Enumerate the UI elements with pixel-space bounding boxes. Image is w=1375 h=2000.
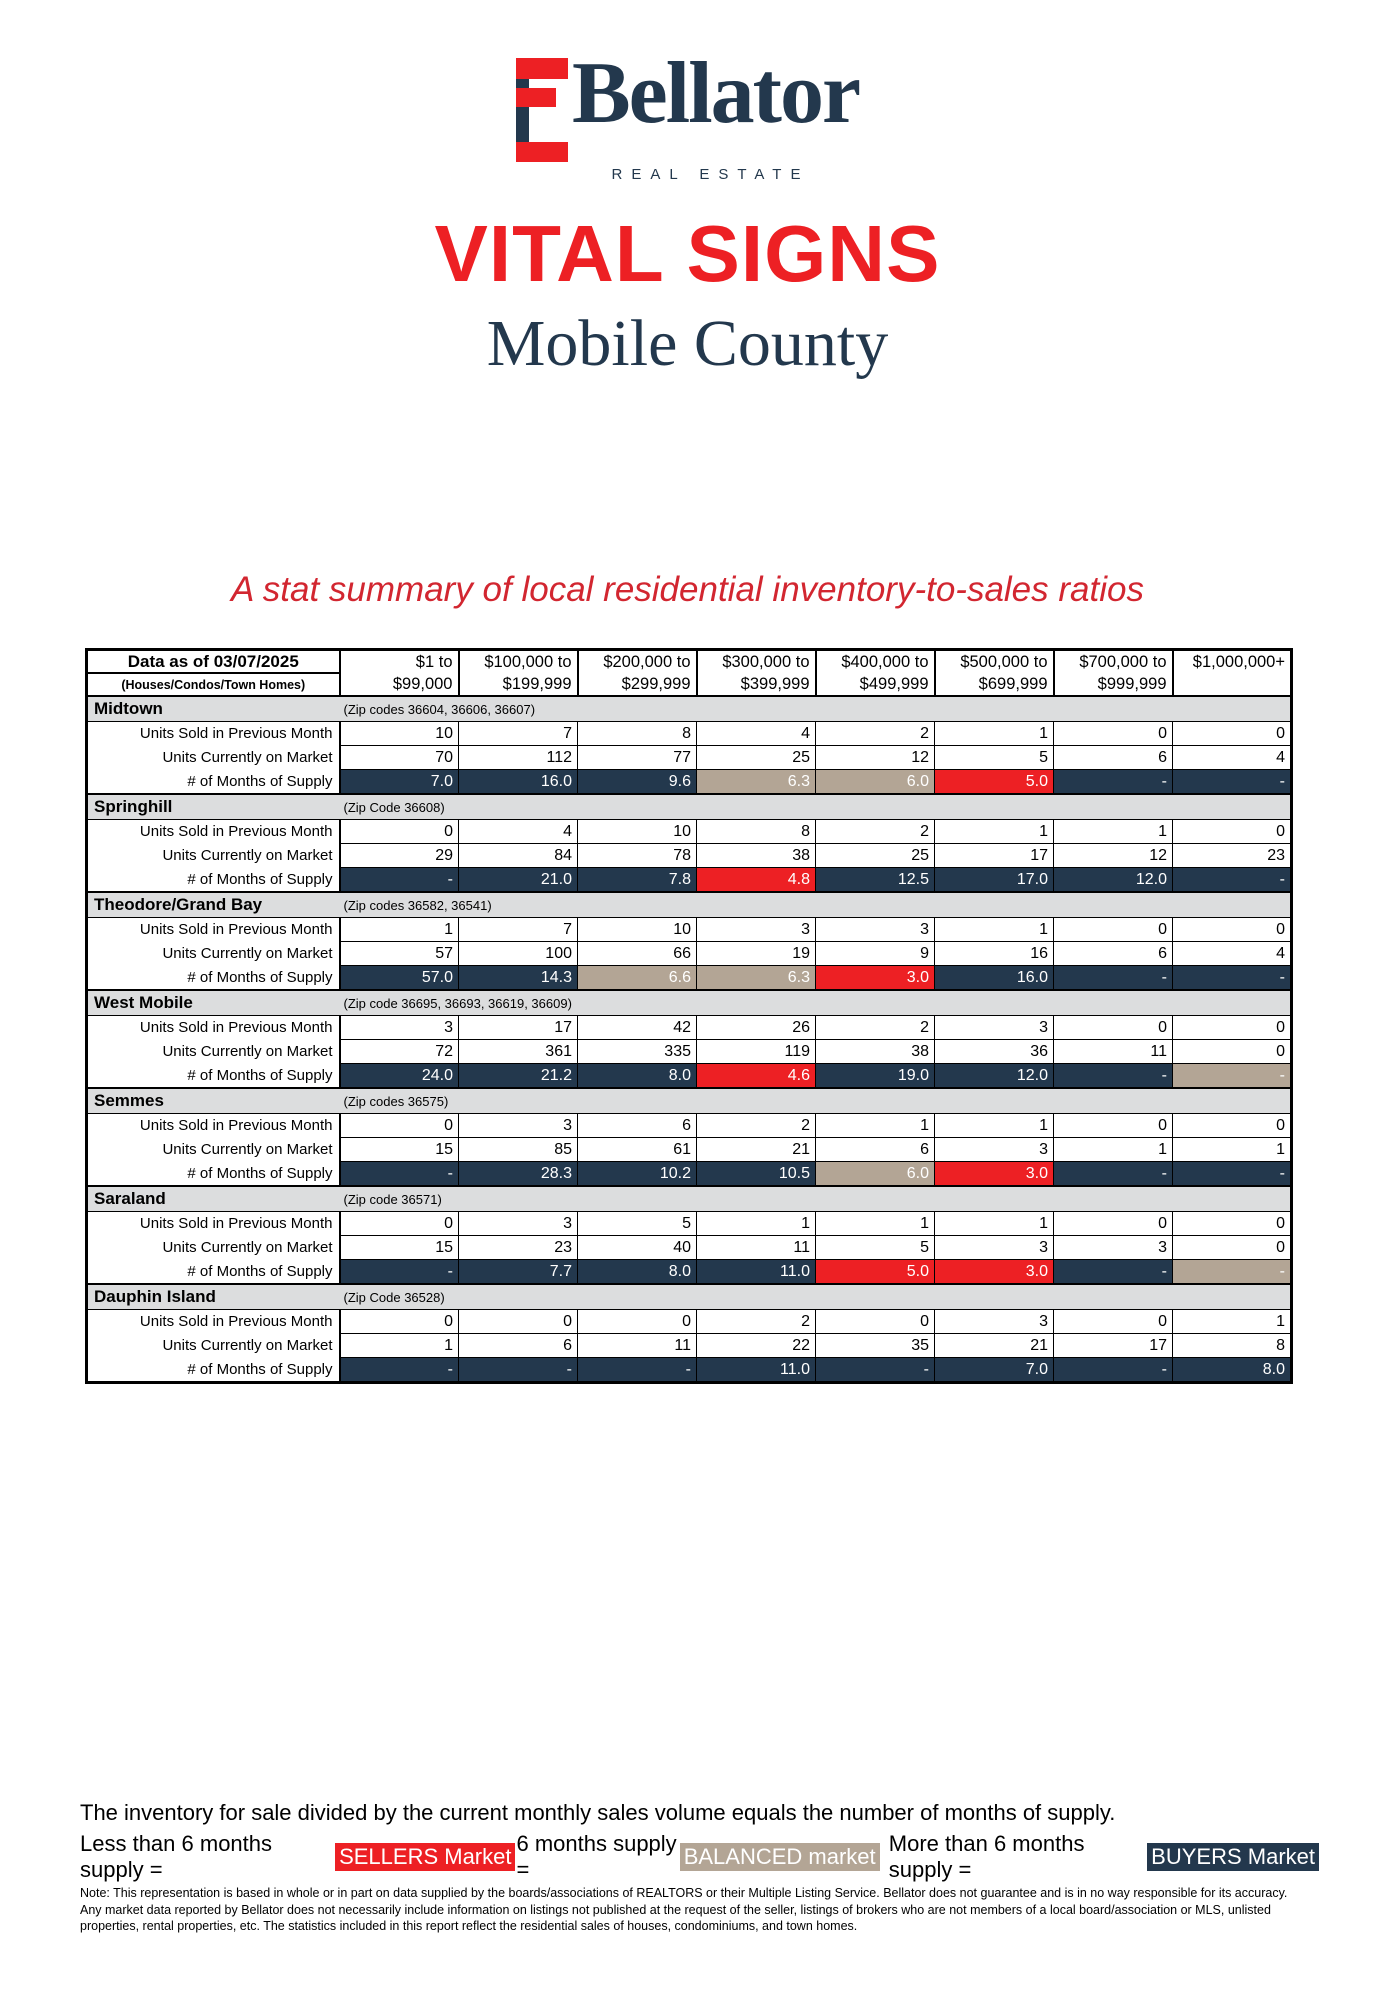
supply-cell: 5.0 <box>935 770 1054 795</box>
supply-cell: 6.3 <box>697 966 816 991</box>
market-cell: 40 <box>578 1236 697 1260</box>
supply-cell: - <box>1173 966 1292 991</box>
market-cell: 3 <box>935 1236 1054 1260</box>
supply-cell: 7.0 <box>935 1358 1054 1383</box>
row-label-supply: # of Months of Supply <box>87 1162 340 1187</box>
sold-cell: 0 <box>1054 1114 1173 1138</box>
supply-cell: 10.5 <box>697 1162 816 1187</box>
market-cell: 35 <box>816 1334 935 1358</box>
column-header-top-4: $400,000 to <box>816 650 935 674</box>
page-title: VITAL SIGNS <box>0 208 1375 300</box>
supply-cell: 7.0 <box>340 770 459 795</box>
market-cell: 100 <box>459 942 578 966</box>
market-cell: 11 <box>697 1236 816 1260</box>
market-cell: 72 <box>340 1040 459 1064</box>
sold-cell: 0 <box>340 1212 459 1236</box>
supply-cell: - <box>578 1358 697 1383</box>
column-header-top-1: $100,000 to <box>459 650 578 674</box>
market-cell: 70 <box>340 746 459 770</box>
section-header-row: Semmes(Zip codes 36575) <box>87 1088 1292 1114</box>
market-cell: 22 <box>697 1334 816 1358</box>
market-cell: 361 <box>459 1040 578 1064</box>
sold-cell: 8 <box>578 722 697 746</box>
supply-cell: 3.0 <box>935 1162 1054 1187</box>
market-cell: 12 <box>1054 844 1173 868</box>
column-header-top-0: $1 to <box>340 650 459 674</box>
sold-cell: 1 <box>816 1212 935 1236</box>
market-cell: 4 <box>1173 942 1292 966</box>
supply-cell: 21.0 <box>459 868 578 893</box>
market-cell: 16 <box>935 942 1054 966</box>
market-cell: 36 <box>935 1040 1054 1064</box>
bellator-logo: Bellator REAL ESTATE <box>0 52 1375 184</box>
supply-cell: 8.0 <box>578 1260 697 1285</box>
sold-cell: 3 <box>340 1016 459 1040</box>
supply-cell: - <box>1173 1064 1292 1089</box>
column-header-bottom-0: $99,000 <box>340 673 459 696</box>
sold-cell: 0 <box>578 1310 697 1334</box>
column-header-top-6: $700,000 to <box>1054 650 1173 674</box>
sold-cell: 1 <box>935 722 1054 746</box>
column-header-bottom-4: $499,999 <box>816 673 935 696</box>
table-row: Units Sold in Previous Month31742262300 <box>87 1016 1292 1040</box>
sold-cell: 0 <box>1054 1212 1173 1236</box>
sold-cell: 2 <box>697 1310 816 1334</box>
sold-cell: 26 <box>697 1016 816 1040</box>
supply-cell: 11.0 <box>697 1358 816 1383</box>
market-cell: 0 <box>1173 1236 1292 1260</box>
sold-cell: 0 <box>340 820 459 844</box>
market-cell: 85 <box>459 1138 578 1162</box>
section-name: Theodore/Grand Bay <box>87 892 340 918</box>
row-label-sold: Units Sold in Previous Month <box>87 722 340 746</box>
supply-cell: - <box>1173 868 1292 893</box>
supply-cell: 11.0 <box>697 1260 816 1285</box>
supply-cell: 10.2 <box>578 1162 697 1187</box>
column-header-top-3: $300,000 to <box>697 650 816 674</box>
supply-cell: - <box>1054 1162 1173 1187</box>
market-cell: 12 <box>816 746 935 770</box>
supply-cell: - <box>1054 1260 1173 1285</box>
table-row: # of Months of Supply---11.0-7.0-8.0 <box>87 1358 1292 1383</box>
market-cell: 6 <box>459 1334 578 1358</box>
market-cell: 25 <box>697 746 816 770</box>
table-row: # of Months of Supply-28.310.210.56.03.0… <box>87 1162 1292 1187</box>
market-cell: 5 <box>935 746 1054 770</box>
sold-cell: 0 <box>459 1310 578 1334</box>
row-label-supply: # of Months of Supply <box>87 1064 340 1089</box>
market-cell: 29 <box>340 844 459 868</box>
supply-cell: 4.8 <box>697 868 816 893</box>
market-cell: 17 <box>935 844 1054 868</box>
table-row: Units Currently on Market298478382517122… <box>87 844 1292 868</box>
sold-cell: 0 <box>1173 1114 1292 1138</box>
sold-cell: 1 <box>935 1212 1054 1236</box>
table-row: # of Months of Supply7.016.09.66.36.05.0… <box>87 770 1292 795</box>
market-cell: 25 <box>816 844 935 868</box>
market-cell: 19 <box>697 942 816 966</box>
market-cell: 17 <box>1054 1334 1173 1358</box>
legend-more-label: More than 6 months supply = <box>889 1831 1146 1883</box>
supply-cell: - <box>459 1358 578 1383</box>
supply-cell: 24.0 <box>340 1064 459 1089</box>
supply-cell: 9.6 <box>578 770 697 795</box>
section-name: Dauphin Island <box>87 1284 340 1310</box>
sold-cell: 0 <box>1054 722 1173 746</box>
vital-signs-table-wrap: Data as of 03/07/2025$1 to$100,000 to$20… <box>85 648 1290 1384</box>
supply-cell: 6.0 <box>816 1162 935 1187</box>
table-row: # of Months of Supply-21.07.84.812.517.0… <box>87 868 1292 893</box>
table-row: Units Sold in Previous Month03511100 <box>87 1212 1292 1236</box>
supply-cell: 6.0 <box>816 770 935 795</box>
table-header-row-top: Data as of 03/07/2025$1 to$100,000 to$20… <box>87 650 1292 674</box>
sold-cell: 10 <box>578 918 697 942</box>
market-cell: 78 <box>578 844 697 868</box>
market-cell: 1 <box>340 1334 459 1358</box>
page-subtitle: Mobile County <box>0 306 1375 382</box>
market-cell: 6 <box>1054 746 1173 770</box>
table-row: Units Currently on Market152340115330 <box>87 1236 1292 1260</box>
sold-cell: 0 <box>1173 1016 1292 1040</box>
row-label-sold: Units Sold in Previous Month <box>87 1016 340 1040</box>
brand-tagline: REAL ESTATE <box>516 166 859 183</box>
row-label-sold: Units Sold in Previous Month <box>87 918 340 942</box>
row-label-market: Units Currently on Market <box>87 1040 340 1064</box>
table-row: # of Months of Supply24.021.28.04.619.01… <box>87 1064 1292 1089</box>
sold-cell: 3 <box>697 918 816 942</box>
supply-cell: - <box>1173 1162 1292 1187</box>
supply-cell: 16.0 <box>459 770 578 795</box>
supply-cell: 8.0 <box>1173 1358 1292 1383</box>
sold-cell: 7 <box>459 918 578 942</box>
section-zipcodes: (Zip codes 36604, 36606, 36607) <box>340 696 1292 722</box>
supply-cell: - <box>1173 1260 1292 1285</box>
supply-cell: - <box>340 1162 459 1187</box>
supply-cell: 3.0 <box>935 1260 1054 1285</box>
supply-cell: 8.0 <box>578 1064 697 1089</box>
section-zipcodes: (Zip Code 36608) <box>340 794 1292 820</box>
column-header-bottom-5: $699,999 <box>935 673 1054 696</box>
table-row: # of Months of Supply57.014.36.66.33.016… <box>87 966 1292 991</box>
supply-cell: 21.2 <box>459 1064 578 1089</box>
supply-cell: 28.3 <box>459 1162 578 1187</box>
legend-chips-row: Less than 6 months supply = SELLERS Mark… <box>80 1831 1320 1883</box>
row-label-market: Units Currently on Market <box>87 1334 340 1358</box>
supply-cell: - <box>1054 966 1173 991</box>
sold-cell: 5 <box>578 1212 697 1236</box>
sold-cell: 1 <box>935 1114 1054 1138</box>
table-corner-subtitle: (Houses/Condos/Town Homes) <box>87 673 340 696</box>
supply-cell: 14.3 <box>459 966 578 991</box>
sold-cell: 3 <box>935 1016 1054 1040</box>
row-label-market: Units Currently on Market <box>87 942 340 966</box>
row-label-supply: # of Months of Supply <box>87 770 340 795</box>
sold-cell: 0 <box>1173 1212 1292 1236</box>
market-cell: 112 <box>459 746 578 770</box>
table-row: Units Currently on Market158561216311 <box>87 1138 1292 1162</box>
table-row: Units Sold in Previous Month171033100 <box>87 918 1292 942</box>
column-header-top-5: $500,000 to <box>935 650 1054 674</box>
row-label-supply: # of Months of Supply <box>87 868 340 893</box>
legend-six-label: 6 months supply = <box>516 1831 678 1883</box>
section-zipcodes: (Zip codes 36582, 36541) <box>340 892 1292 918</box>
market-cell: 6 <box>816 1138 935 1162</box>
section-header-row: Dauphin Island(Zip Code 36528) <box>87 1284 1292 1310</box>
row-label-market: Units Currently on Market <box>87 1138 340 1162</box>
market-cell: 15 <box>340 1138 459 1162</box>
sold-cell: 0 <box>340 1114 459 1138</box>
market-cell: 21 <box>935 1334 1054 1358</box>
bellator-b-mark-icon <box>516 58 568 162</box>
sellers-market-chip: SELLERS Market <box>335 1843 515 1871</box>
market-cell: 0 <box>1173 1040 1292 1064</box>
market-cell: 1 <box>1173 1138 1292 1162</box>
sold-cell: 2 <box>816 820 935 844</box>
row-label-supply: # of Months of Supply <box>87 1358 340 1383</box>
market-cell: 66 <box>578 942 697 966</box>
supply-cell: - <box>1054 770 1173 795</box>
row-label-market: Units Currently on Market <box>87 844 340 868</box>
section-name: Semmes <box>87 1088 340 1114</box>
balanced-market-chip: BALANCED market <box>680 1843 880 1871</box>
row-label-market: Units Currently on Market <box>87 1236 340 1260</box>
row-label-sold: Units Sold in Previous Month <box>87 1212 340 1236</box>
supply-cell: 19.0 <box>816 1064 935 1089</box>
sold-cell: 4 <box>697 722 816 746</box>
table-row: # of Months of Supply-7.78.011.05.03.0-- <box>87 1260 1292 1285</box>
sold-cell: 0 <box>340 1310 459 1334</box>
sold-cell: 2 <box>816 1016 935 1040</box>
table-row: Units Currently on Market57100661991664 <box>87 942 1292 966</box>
market-cell: 21 <box>697 1138 816 1162</box>
section-zipcodes: (Zip code 36695, 36693, 36619, 36609) <box>340 990 1292 1016</box>
market-cell: 8 <box>1173 1334 1292 1358</box>
supply-cell: 57.0 <box>340 966 459 991</box>
market-cell: 335 <box>578 1040 697 1064</box>
supply-cell: - <box>340 1358 459 1383</box>
market-cell: 23 <box>459 1236 578 1260</box>
row-label-sold: Units Sold in Previous Month <box>87 820 340 844</box>
sold-cell: 17 <box>459 1016 578 1040</box>
sold-cell: 7 <box>459 722 578 746</box>
sold-cell: 1 <box>340 918 459 942</box>
sold-cell: 0 <box>1054 1310 1173 1334</box>
market-cell: 38 <box>697 844 816 868</box>
supply-cell: 7.8 <box>578 868 697 893</box>
market-cell: 11 <box>1054 1040 1173 1064</box>
table-row: Units Currently on Market70112772512564 <box>87 746 1292 770</box>
supply-cell: - <box>340 868 459 893</box>
column-header-top-2: $200,000 to <box>578 650 697 674</box>
sold-cell: 1 <box>816 1114 935 1138</box>
section-header-row: Midtown(Zip codes 36604, 36606, 36607) <box>87 696 1292 722</box>
sold-cell: 1 <box>697 1212 816 1236</box>
sold-cell: 10 <box>578 820 697 844</box>
section-zipcodes: (Zip codes 36575) <box>340 1088 1292 1114</box>
sold-cell: 1 <box>1173 1310 1292 1334</box>
column-header-top-7: $1,000,000+ <box>1173 650 1292 674</box>
legend-less-label: Less than 6 months supply = <box>80 1831 334 1883</box>
sold-cell: 42 <box>578 1016 697 1040</box>
section-name: Springhill <box>87 794 340 820</box>
table-row: Units Currently on Market723613351193836… <box>87 1040 1292 1064</box>
column-header-bottom-3: $399,999 <box>697 673 816 696</box>
supply-cell: - <box>1173 770 1292 795</box>
vital-signs-table: Data as of 03/07/2025$1 to$100,000 to$20… <box>85 648 1293 1384</box>
sold-cell: 8 <box>697 820 816 844</box>
buyers-market-chip: BUYERS Market <box>1147 1843 1319 1871</box>
table-row: Units Sold in Previous Month03621100 <box>87 1114 1292 1138</box>
sold-cell: 0 <box>1173 918 1292 942</box>
market-cell: 84 <box>459 844 578 868</box>
sold-cell: 4 <box>459 820 578 844</box>
market-cell: 1 <box>1054 1138 1173 1162</box>
sold-cell: 1 <box>935 918 1054 942</box>
market-cell: 38 <box>816 1040 935 1064</box>
sold-cell: 2 <box>697 1114 816 1138</box>
supply-cell: 5.0 <box>816 1260 935 1285</box>
legend: The inventory for sale divided by the cu… <box>80 1800 1320 1883</box>
supply-cell: - <box>340 1260 459 1285</box>
market-cell: 23 <box>1173 844 1292 868</box>
supply-cell: - <box>1054 1358 1173 1383</box>
supply-cell: - <box>1054 1064 1173 1089</box>
supply-cell: 12.0 <box>1054 868 1173 893</box>
sold-cell: 1 <box>1054 820 1173 844</box>
market-cell: 4 <box>1173 746 1292 770</box>
disclaimer-note: Note: This representation is based in wh… <box>80 1885 1310 1935</box>
market-cell: 15 <box>340 1236 459 1260</box>
supply-cell: 17.0 <box>935 868 1054 893</box>
column-header-bottom-2: $299,999 <box>578 673 697 696</box>
section-name: Saraland <box>87 1186 340 1212</box>
market-cell: 119 <box>697 1040 816 1064</box>
table-row: Units Currently on Market1611223521178 <box>87 1334 1292 1358</box>
section-name: Midtown <box>87 696 340 722</box>
sold-cell: 3 <box>459 1114 578 1138</box>
supply-cell: 7.7 <box>459 1260 578 1285</box>
column-header-bottom-1: $199,999 <box>459 673 578 696</box>
sold-cell: 2 <box>816 722 935 746</box>
column-header-bottom-6: $999,999 <box>1054 673 1173 696</box>
sold-cell: 3 <box>459 1212 578 1236</box>
supply-cell: 3.0 <box>816 966 935 991</box>
market-cell: 77 <box>578 746 697 770</box>
row-label-sold: Units Sold in Previous Month <box>87 1310 340 1334</box>
sold-cell: 10 <box>340 722 459 746</box>
supply-cell: 12.0 <box>935 1064 1054 1089</box>
sold-cell: 0 <box>1054 918 1173 942</box>
supply-cell: - <box>816 1358 935 1383</box>
sold-cell: 1 <box>935 820 1054 844</box>
market-cell: 3 <box>1054 1236 1173 1260</box>
sold-cell: 6 <box>578 1114 697 1138</box>
section-zipcodes: (Zip code 36571) <box>340 1186 1292 1212</box>
page-tagline: A stat summary of local residential inve… <box>0 570 1375 610</box>
row-label-market: Units Currently on Market <box>87 746 340 770</box>
legend-definition: The inventory for sale divided by the cu… <box>80 1800 1320 1826</box>
supply-cell: 6.6 <box>578 966 697 991</box>
brand-name: Bellator <box>572 52 859 136</box>
market-cell: 5 <box>816 1236 935 1260</box>
sold-cell: 0 <box>1054 1016 1173 1040</box>
sold-cell: 3 <box>816 918 935 942</box>
sold-cell: 0 <box>816 1310 935 1334</box>
supply-cell: 6.3 <box>697 770 816 795</box>
sold-cell: 0 <box>1173 722 1292 746</box>
market-cell: 6 <box>1054 942 1173 966</box>
sold-cell: 0 <box>1173 820 1292 844</box>
market-cell: 61 <box>578 1138 697 1162</box>
supply-cell: 16.0 <box>935 966 1054 991</box>
sold-cell: 3 <box>935 1310 1054 1334</box>
row-label-supply: # of Months of Supply <box>87 1260 340 1285</box>
section-zipcodes: (Zip Code 36528) <box>340 1284 1292 1310</box>
vital-signs-page: Bellator REAL ESTATE VITAL SIGNS Mobile … <box>0 0 1375 2000</box>
market-cell: 3 <box>935 1138 1054 1162</box>
column-header-bottom-7 <box>1173 673 1292 696</box>
section-header-row: Theodore/Grand Bay(Zip codes 36582, 3654… <box>87 892 1292 918</box>
supply-cell: 4.6 <box>697 1064 816 1089</box>
market-cell: 11 <box>578 1334 697 1358</box>
row-label-sold: Units Sold in Previous Month <box>87 1114 340 1138</box>
table-header-row-bottom: (Houses/Condos/Town Homes)$99,000$199,99… <box>87 673 1292 696</box>
table-corner-title: Data as of 03/07/2025 <box>87 650 340 674</box>
market-cell: 9 <box>816 942 935 966</box>
table-row: Units Sold in Previous Month041082110 <box>87 820 1292 844</box>
market-cell: 57 <box>340 942 459 966</box>
table-row: Units Sold in Previous Month107842100 <box>87 722 1292 746</box>
section-header-row: Springhill(Zip Code 36608) <box>87 794 1292 820</box>
section-name: West Mobile <box>87 990 340 1016</box>
section-header-row: West Mobile(Zip code 36695, 36693, 36619… <box>87 990 1292 1016</box>
row-label-supply: # of Months of Supply <box>87 966 340 991</box>
supply-cell: 12.5 <box>816 868 935 893</box>
table-row: Units Sold in Previous Month00020301 <box>87 1310 1292 1334</box>
section-header-row: Saraland(Zip code 36571) <box>87 1186 1292 1212</box>
